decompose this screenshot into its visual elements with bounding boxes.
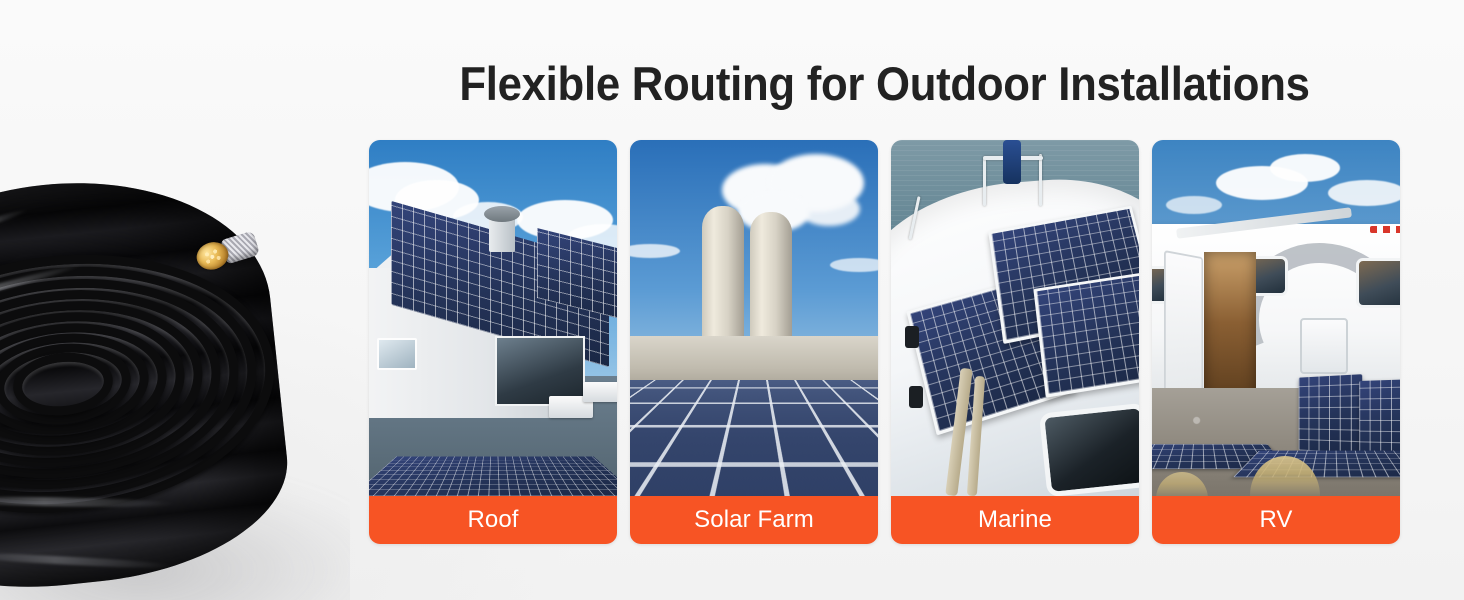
deck-cleat — [905, 326, 919, 348]
rv-interior — [1204, 252, 1256, 400]
furled-sail — [1003, 140, 1021, 184]
application-card-roof[interactable]: Roof — [369, 140, 617, 544]
house-window — [377, 338, 417, 370]
ground-solar-array — [369, 457, 617, 496]
bow-rail — [1039, 154, 1042, 206]
cloud — [1328, 180, 1400, 206]
cloud — [1166, 196, 1222, 214]
cable-coil — [0, 81, 326, 600]
rv-storage-hatch — [1300, 318, 1348, 374]
portable-solar-panel — [1359, 379, 1400, 455]
foreground-dirt — [630, 470, 878, 496]
card-caption-roof: Roof — [369, 496, 617, 544]
portable-solar-panel — [1299, 374, 1363, 454]
roof-vent-stack — [489, 218, 515, 252]
cooling-tower — [702, 206, 744, 340]
application-card-solar-farm[interactable]: Solar Farm — [630, 140, 878, 544]
application-card-rv[interactable]: RV — [1152, 140, 1400, 544]
cloud — [1270, 154, 1340, 182]
rv-marker-lights — [1370, 226, 1400, 233]
cooling-tower — [750, 212, 792, 340]
product-feature-banner: Flexible Routing for Outdoor Installatio… — [0, 0, 1464, 600]
bow-rail — [983, 158, 986, 206]
card-photo-marine — [891, 140, 1139, 496]
card-caption-solar-farm: Solar Farm — [630, 496, 878, 544]
steam-plume — [798, 192, 860, 226]
card-photo-rv — [1152, 140, 1400, 496]
card-photo-solar-farm — [630, 140, 878, 496]
cabin-hatch-window — [1039, 403, 1139, 496]
card-caption-marine: Marine — [891, 496, 1139, 544]
deck-cleat — [909, 386, 923, 408]
marine-solar-panel — [1033, 270, 1139, 398]
application-card-marine[interactable]: Marine — [891, 140, 1139, 544]
rv-door[interactable] — [1164, 250, 1203, 404]
hvac-unit — [583, 382, 617, 402]
card-photo-roof — [369, 140, 617, 496]
copper-strands — [199, 244, 227, 268]
product-image-coiled-cable — [0, 0, 350, 600]
rv-window — [1356, 258, 1400, 308]
page-title: Flexible Routing for Outdoor Installatio… — [405, 56, 1364, 112]
card-caption-rv: RV — [1152, 496, 1400, 544]
application-card-list: Roof Solar Farm — [369, 140, 1400, 544]
